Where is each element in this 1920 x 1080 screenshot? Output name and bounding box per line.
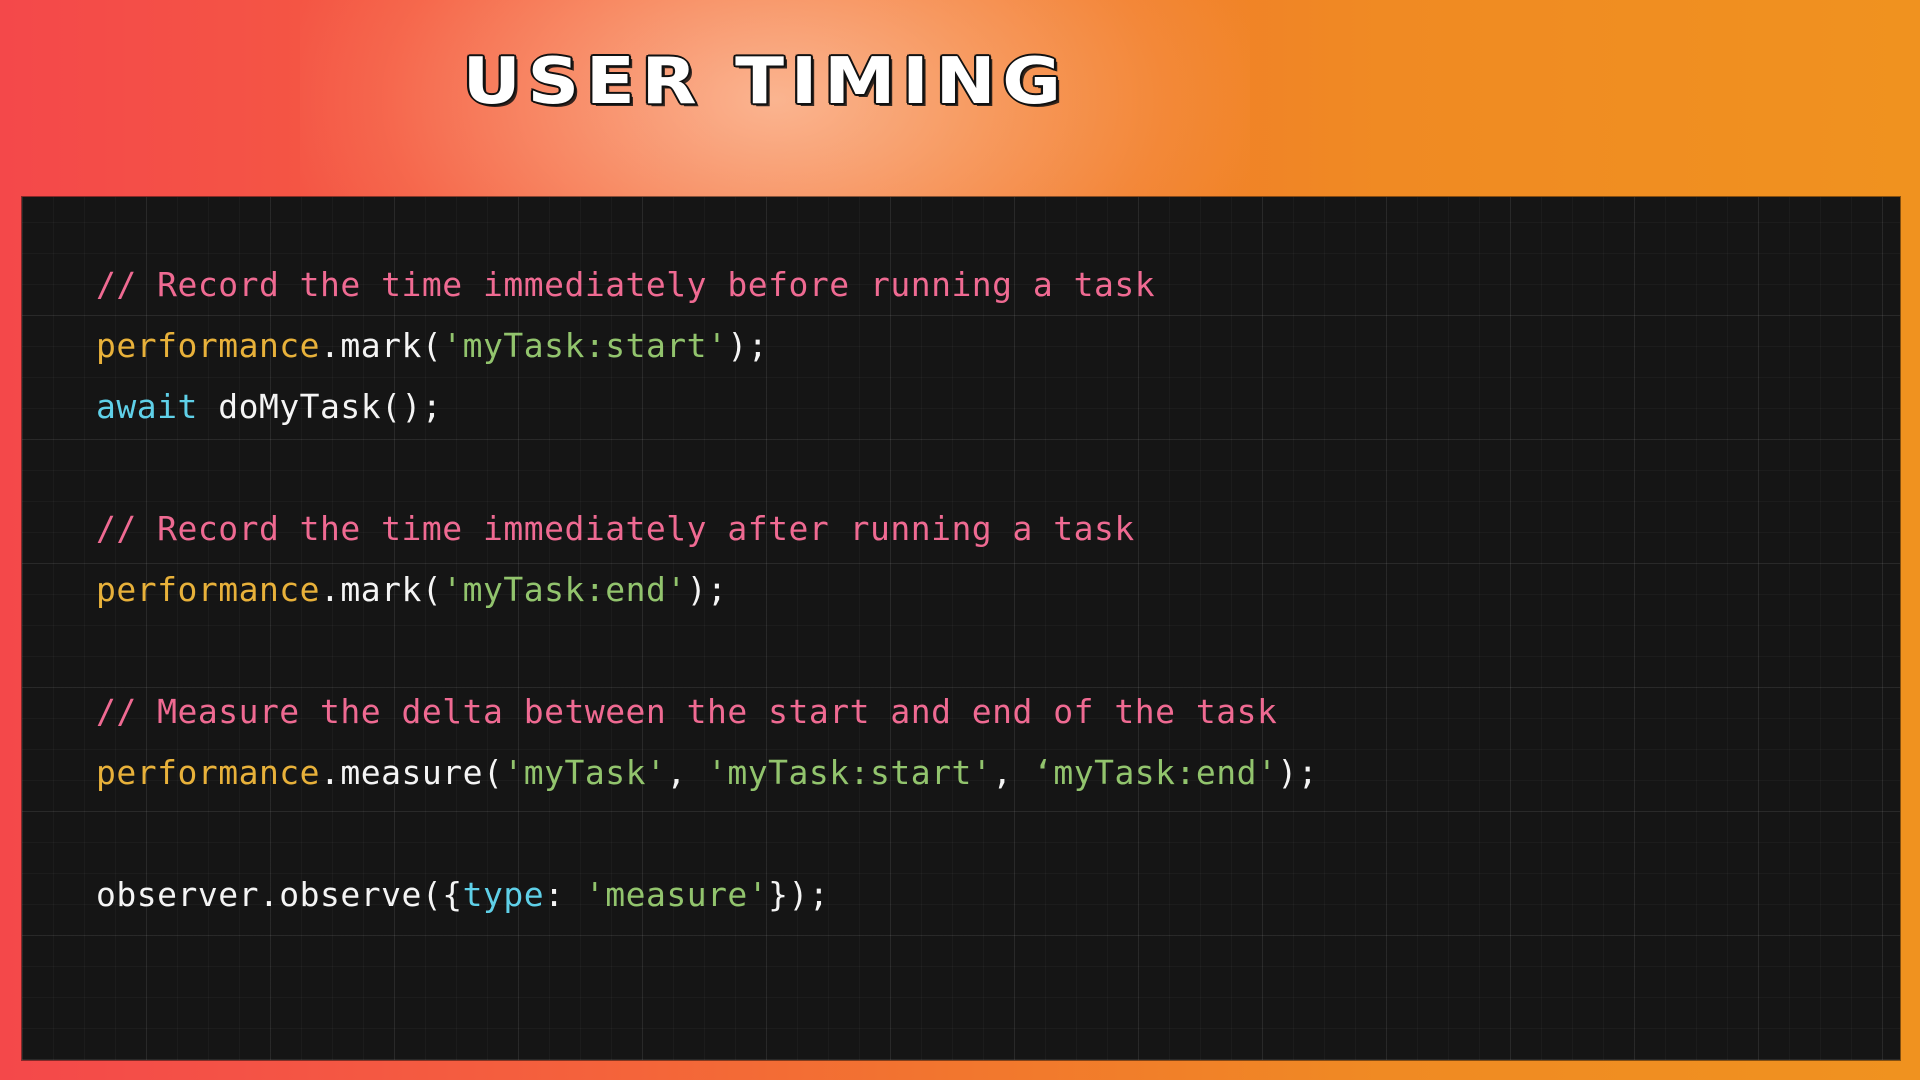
- code-token-string: 'myTask': [503, 753, 666, 792]
- code-token-plain: ,: [666, 753, 707, 792]
- code-line: performance.measure('myTask', 'myTask:st…: [96, 742, 1318, 803]
- code-token-property: type: [463, 875, 544, 914]
- code-token-plain: .mark(: [320, 570, 442, 609]
- code-line: [96, 803, 1318, 864]
- code-token-comment: // Record the time immediately after run…: [96, 509, 1135, 548]
- code-line: performance.mark('myTask:start');: [96, 315, 1318, 376]
- code-token-plain: ,: [992, 753, 1033, 792]
- code-token-comment: // Measure the delta between the start a…: [96, 692, 1277, 731]
- code-token-comment: // Record the time immediately before ru…: [96, 265, 1155, 304]
- code-token-plain: doMyTask();: [198, 387, 442, 426]
- code-token-plain: .measure(: [320, 753, 503, 792]
- code-token-identifier: performance: [96, 570, 320, 609]
- code-token-identifier: performance: [96, 326, 320, 365]
- code-line: // Record the time immediately before ru…: [96, 254, 1318, 315]
- slide-header: USER TIMING: [0, 46, 1530, 118]
- page-title: USER TIMING: [462, 46, 1067, 118]
- code-panel: // Record the time immediately before ru…: [22, 197, 1900, 1060]
- code-line: observer.observe({type: 'measure'});: [96, 864, 1318, 925]
- slide-root: USER TIMING // Record the time immediate…: [0, 0, 1920, 1080]
- code-token-plain: :: [544, 875, 585, 914]
- code-line: // Measure the delta between the start a…: [96, 681, 1318, 742]
- code-token-plain: });: [768, 875, 829, 914]
- code-token-string: 'measure': [585, 875, 768, 914]
- code-line: await doMyTask();: [96, 376, 1318, 437]
- code-token-plain: observer.observe({: [96, 875, 463, 914]
- code-token-keyword: await: [96, 387, 198, 426]
- code-line: // Record the time immediately after run…: [96, 498, 1318, 559]
- code-token-string: 'myTask:start': [707, 753, 992, 792]
- code-token-plain: );: [727, 326, 768, 365]
- code-token-string: ‘myTask:end': [1033, 753, 1277, 792]
- code-token-plain: );: [1277, 753, 1318, 792]
- code-line: performance.mark('myTask:end');: [96, 559, 1318, 620]
- code-token-plain: );: [687, 570, 728, 609]
- code-line: [96, 437, 1318, 498]
- code-token-identifier: performance: [96, 753, 320, 792]
- code-block[interactable]: // Record the time immediately before ru…: [96, 254, 1318, 925]
- code-line: [96, 620, 1318, 681]
- code-token-string: 'myTask:start': [442, 326, 727, 365]
- code-token-string: 'myTask:end': [442, 570, 686, 609]
- code-token-plain: .mark(: [320, 326, 442, 365]
